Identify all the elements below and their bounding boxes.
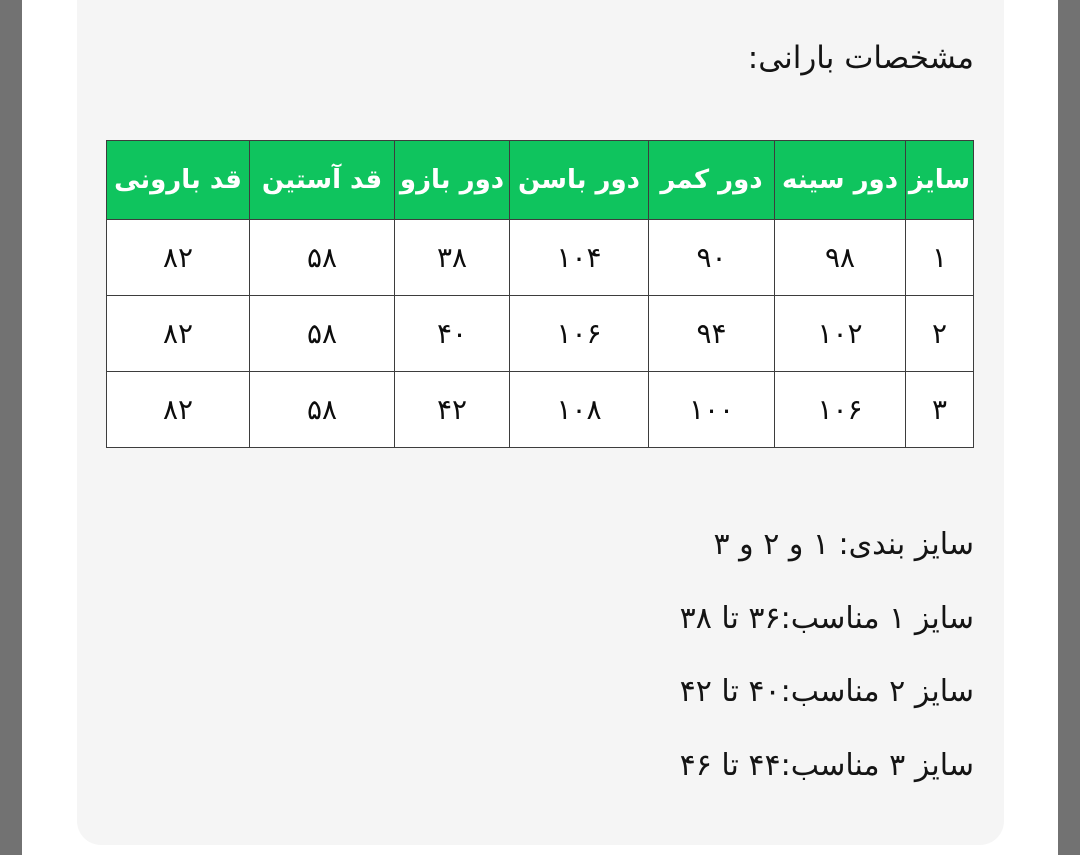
cell-sleeve: ۵۸ bbox=[250, 296, 395, 372]
column-header-chest: دور سینه bbox=[775, 141, 906, 220]
table-body: ۱ ۹۸ ۹۰ ۱۰۴ ۳۸ ۵۸ ۸۲ ۲ ۱۰۲ ۹۴ ۱۰۶ ۴۰ bbox=[107, 220, 974, 448]
table-header-row: سایز دور سینه دور کمر دور باسن دور بازو … bbox=[107, 141, 974, 220]
sizing-notes: سایز بندی: ۱ و ۲ و ۳ سایز ۱ مناسب:۳۶ تا … bbox=[107, 526, 974, 784]
cell-size: ۳ bbox=[906, 372, 974, 448]
size-chart-table: سایز دور سینه دور کمر دور باسن دور بازو … bbox=[106, 140, 974, 448]
page-background: مشخصات بارانی: سایز دور سینه دور کمر bbox=[22, 0, 1058, 855]
cell-sleeve: ۵۸ bbox=[250, 372, 395, 448]
cell-coat-length: ۸۲ bbox=[107, 372, 250, 448]
table-row: ۲ ۱۰۲ ۹۴ ۱۰۶ ۴۰ ۵۸ ۸۲ bbox=[107, 296, 974, 372]
page-title: مشخصات بارانی: bbox=[107, 0, 974, 78]
right-scroll-gutter[interactable] bbox=[1058, 0, 1080, 855]
note-size-3-fit: سایز ۳ مناسب:۴۴ تا ۴۶ bbox=[107, 747, 974, 785]
column-header-size: سایز bbox=[906, 141, 974, 220]
size-table-container: سایز دور سینه دور کمر دور باسن دور بازو … bbox=[107, 140, 974, 448]
cell-hip: ۱۰۸ bbox=[510, 372, 649, 448]
column-header-sleeve: قد آستین bbox=[250, 141, 395, 220]
product-spec-card: مشخصات بارانی: سایز دور سینه دور کمر bbox=[77, 0, 1004, 845]
table-header: سایز دور سینه دور کمر دور باسن دور بازو … bbox=[107, 141, 974, 220]
cell-hip: ۱۰۴ bbox=[510, 220, 649, 296]
cell-hip: ۱۰۶ bbox=[510, 296, 649, 372]
note-size-1-fit: سایز ۱ مناسب:۳۶ تا ۳۸ bbox=[107, 600, 974, 638]
cell-size: ۲ bbox=[906, 296, 974, 372]
cell-arm: ۴۰ bbox=[395, 296, 510, 372]
cell-chest: ۹۸ bbox=[775, 220, 906, 296]
note-size-2-fit: سایز ۲ مناسب:۴۰ تا ۴۲ bbox=[107, 673, 974, 711]
table-row: ۳ ۱۰۶ ۱۰۰ ۱۰۸ ۴۲ ۵۸ ۸۲ bbox=[107, 372, 974, 448]
cell-waist: ۹۰ bbox=[649, 220, 775, 296]
column-header-hip: دور باسن bbox=[510, 141, 649, 220]
column-header-coat-length: قد بارونی bbox=[107, 141, 250, 220]
left-scroll-gutter[interactable] bbox=[0, 0, 22, 855]
cell-coat-length: ۸۲ bbox=[107, 296, 250, 372]
table-row: ۱ ۹۸ ۹۰ ۱۰۴ ۳۸ ۵۸ ۸۲ bbox=[107, 220, 974, 296]
cell-coat-length: ۸۲ bbox=[107, 220, 250, 296]
cell-waist: ۱۰۰ bbox=[649, 372, 775, 448]
cell-sleeve: ۵۸ bbox=[250, 220, 395, 296]
cell-chest: ۱۰۶ bbox=[775, 372, 906, 448]
cell-arm: ۴۲ bbox=[395, 372, 510, 448]
cell-size: ۱ bbox=[906, 220, 974, 296]
column-header-waist: دور کمر bbox=[649, 141, 775, 220]
cell-chest: ۱۰۲ bbox=[775, 296, 906, 372]
cell-arm: ۳۸ bbox=[395, 220, 510, 296]
column-header-arm: دور بازو bbox=[395, 141, 510, 220]
cell-waist: ۹۴ bbox=[649, 296, 775, 372]
note-sizing-range: سایز بندی: ۱ و ۲ و ۳ bbox=[107, 526, 974, 564]
